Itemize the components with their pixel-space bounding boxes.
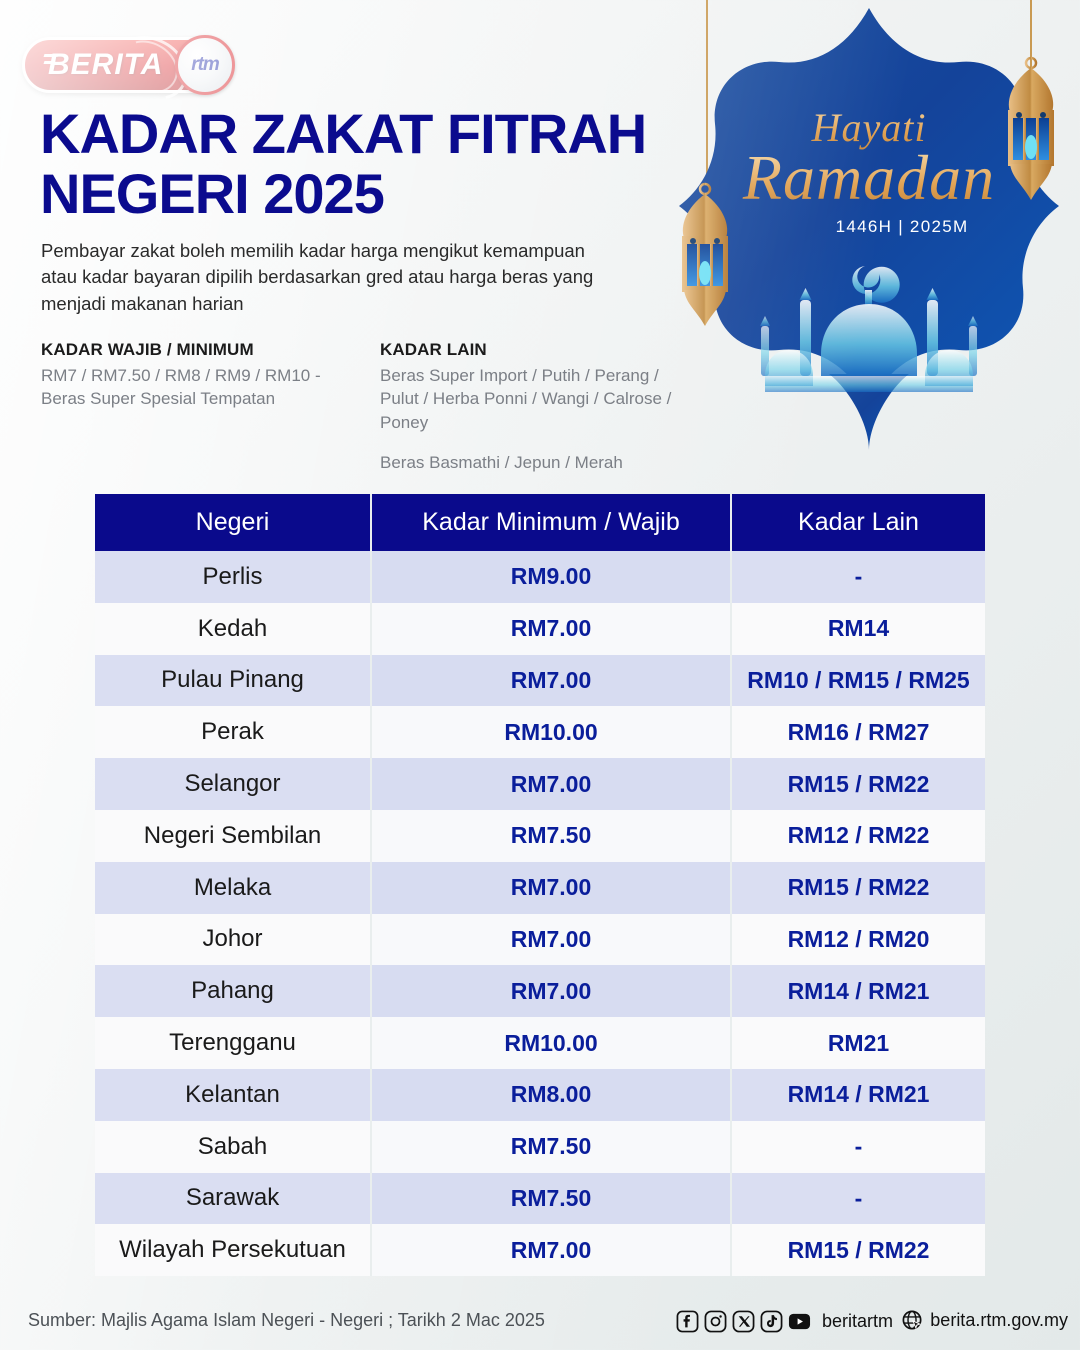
cell-lain: RM14 [732,603,985,655]
table-row: PahangRM7.00RM14 / RM21 [95,965,985,1017]
cell-lain: RM14 / RM21 [732,965,985,1017]
cell-lain: - [732,551,985,603]
kadar-wajib-heading: KADAR WAJIB / MINIMUM [41,340,361,360]
cell-minimum: RM7.00 [372,914,732,966]
cell-negeri: Sarawak [95,1173,372,1225]
column-header-minimum: Kadar Minimum / Wajib [372,494,732,551]
page-title-line2: NEGERI 2025 [40,164,700,224]
kadar-lain-heading: KADAR LAIN [380,340,680,360]
table-row: Pulau PinangRM7.00RM10 / RM15 / RM25 [95,655,985,707]
cell-lain: RM15 / RM22 [732,1224,985,1276]
column-header-lain: Kadar Lain [732,494,985,551]
cell-minimum: RM9.00 [372,551,732,603]
social-handle: beritartm [822,1311,893,1332]
table-row: MelakaRM7.00RM15 / RM22 [95,862,985,914]
cell-negeri: Negeri Sembilan [95,810,372,862]
x-icon[interactable] [732,1310,755,1333]
website-url: berita.rtm.gov.my [930,1310,1068,1331]
cell-negeri: Pahang [95,965,372,1017]
table-row: PerakRM10.00RM16 / RM27 [95,706,985,758]
cell-lain: RM21 [732,1017,985,1069]
cell-minimum: RM7.50 [372,810,732,862]
kadar-lain-body-second: Beras Basmathi / Jepun / Merah [380,451,680,474]
table-header-row: Negeri Kadar Minimum / Wajib Kadar Lain [95,494,985,551]
table-row: PerlisRM9.00- [95,551,985,603]
cell-lain: RM15 / RM22 [732,758,985,810]
table-body: PerlisRM9.00-KedahRM7.00RM14Pulau Pinang… [95,551,985,1276]
cell-negeri: Johor [95,914,372,966]
cell-lain: RM15 / RM22 [732,862,985,914]
cell-negeri: Sabah [95,1121,372,1173]
cell-negeri: Kedah [95,603,372,655]
footer: Sumber: Majlis Agama Islam Negeri - Nege… [0,1294,1080,1350]
page-title-line1: KADAR ZAKAT FITRAH [40,102,646,165]
lantern-icon-right [1000,52,1062,202]
cell-negeri: Melaka [95,862,372,914]
cell-lain: RM12 / RM22 [732,810,985,862]
zakat-rates-table: Negeri Kadar Minimum / Wajib Kadar Lain … [95,494,985,1276]
cell-lain: - [732,1121,985,1173]
kadar-wajib-block: KADAR WAJIB / MINIMUM RM7 / RM7.50 / RM8… [41,340,361,411]
page-title: KADAR ZAKAT FITRAH NEGERI 2025 [40,104,700,224]
cell-minimum: RM7.00 [372,862,732,914]
berita-rtm-logo: BERITA rtm [22,34,237,96]
kadar-lain-block: KADAR LAIN Beras Super Import / Putih / … [380,340,680,475]
page-subtitle: Pembayar zakat boleh memilih kadar harga… [41,238,611,317]
cell-lain: RM16 / RM27 [732,706,985,758]
cell-lain: RM14 / RM21 [732,1069,985,1121]
table-row: KelantanRM8.00RM14 / RM21 [95,1069,985,1121]
column-header-negeri: Negeri [95,494,372,551]
cell-minimum: RM7.00 [372,965,732,1017]
globe-icon[interactable] [901,1309,924,1332]
table-row: SelangorRM7.00RM15 / RM22 [95,758,985,810]
youtube-icon[interactable] [788,1310,811,1333]
cell-negeri: Perak [95,706,372,758]
social-links[interactable]: beritartm [676,1310,893,1333]
cell-lain: RM10 / RM15 / RM25 [732,655,985,707]
table-row: Negeri SembilanRM7.50RM12 / RM22 [95,810,985,862]
table-row: Wilayah PersekutuanRM7.00RM15 / RM22 [95,1224,985,1276]
logo-rtm-text: rtm [175,35,235,95]
cell-negeri: Terengganu [95,1017,372,1069]
cell-minimum: RM7.00 [372,758,732,810]
website-link[interactable]: berita.rtm.gov.my [901,1309,1068,1332]
cell-lain: - [732,1173,985,1225]
table-row: SarawakRM7.50- [95,1173,985,1225]
kadar-lain-body: Beras Super Import / Putih / Perang / Pu… [380,364,680,434]
cell-minimum: RM7.00 [372,603,732,655]
cell-negeri: Wilayah Persekutuan [95,1224,372,1276]
source-text: Sumber: Majlis Agama Islam Negeri - Nege… [28,1310,545,1331]
table-row: KedahRM7.00RM14 [95,603,985,655]
cell-minimum: RM7.00 [372,655,732,707]
kadar-wajib-body: RM7 / RM7.50 / RM8 / RM9 / RM10 - Beras … [41,364,361,411]
ramadan-badge: Hayati Ramadan 1446H | 2025M [654,0,1080,462]
cell-minimum: RM10.00 [372,1017,732,1069]
cell-negeri: Pulau Pinang [95,655,372,707]
cell-minimum: RM7.00 [372,1224,732,1276]
cell-negeri: Kelantan [95,1069,372,1121]
facebook-icon[interactable] [676,1310,699,1333]
cell-minimum: RM8.00 [372,1069,732,1121]
cell-negeri: Selangor [95,758,372,810]
table-row: JohorRM7.00RM12 / RM20 [95,914,985,966]
cell-minimum: RM7.50 [372,1173,732,1225]
logo-berita-text: BERITA [48,48,163,82]
cell-negeri: Perlis [95,551,372,603]
table-row: TerengganuRM10.00RM21 [95,1017,985,1069]
cell-minimum: RM10.00 [372,706,732,758]
infographic-root: BERITA rtm [0,0,1080,1350]
table-row: SabahRM7.50- [95,1121,985,1173]
cell-lain: RM12 / RM20 [732,914,985,966]
instagram-icon[interactable] [704,1310,727,1333]
cell-minimum: RM7.50 [372,1121,732,1173]
tiktok-icon[interactable] [760,1310,783,1333]
